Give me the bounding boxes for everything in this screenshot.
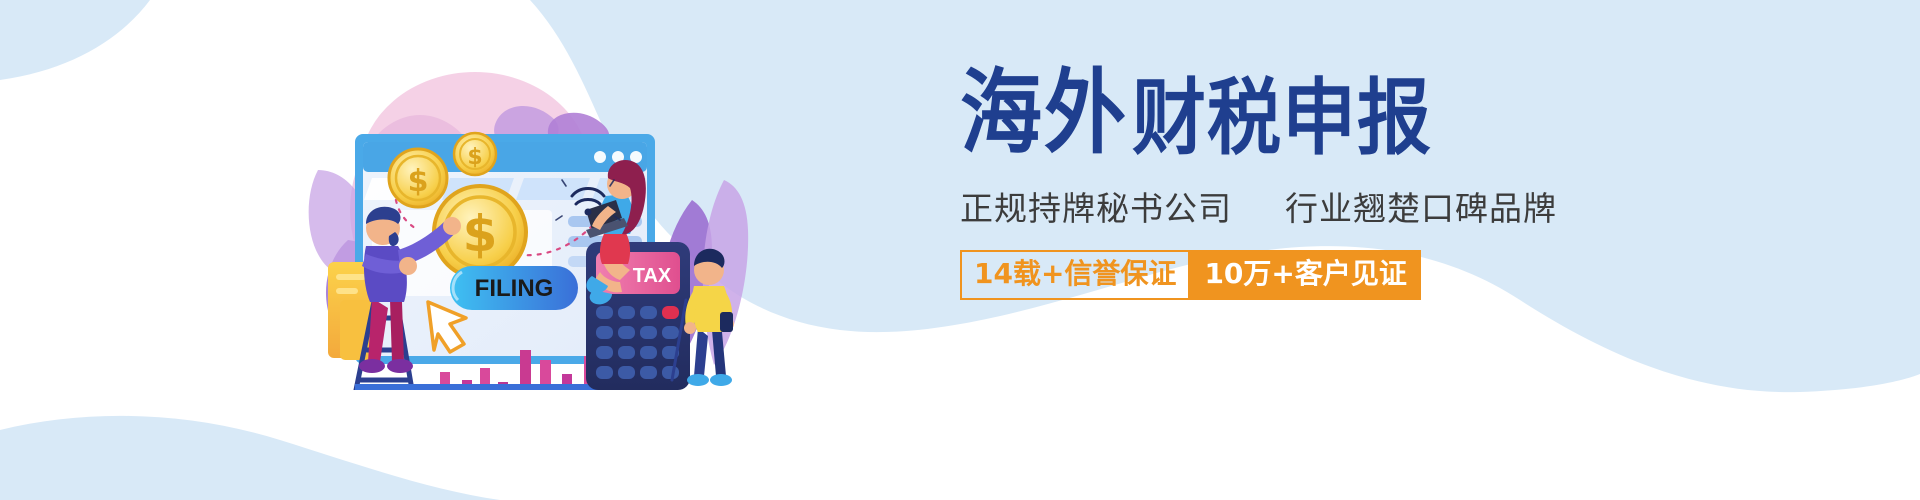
banner-subtitle: 正规持牌秘书公司 行业翘楚口碑品牌 (960, 182, 1720, 230)
gold-coin-small: $ (454, 133, 496, 175)
headline-part-a: 海外 (960, 68, 1128, 160)
svg-text:$: $ (467, 145, 482, 170)
headline-part-b: 财税申报 (1132, 77, 1432, 160)
subtitle-left: 正规持牌秘书公司 (960, 189, 1232, 228)
badge-group: 14载+信誉保证 10万+客户见证 (960, 250, 1720, 300)
svg-text:$: $ (463, 205, 498, 263)
subtitle-right: 行业翘楚口碑品牌 (1285, 189, 1557, 228)
svg-text:FILING: FILING (475, 275, 554, 302)
status-badge-years: 14载+信誉保证 (960, 250, 1190, 300)
svg-text:$: $ (408, 164, 429, 199)
status-badge-clients: 10万+客户见证 (1190, 250, 1420, 300)
filing-button: FILING (450, 266, 578, 310)
page-title: 海外 财税申报 (960, 78, 1720, 160)
banner-text-content: 海外 财税申报 正规持牌秘书公司 行业翘楚口碑品牌 14载+信誉保证 10万+客… (960, 78, 1720, 300)
promo-banner: $ $ $ (0, 0, 1920, 500)
finance-illustration: $ $ $ (300, 50, 760, 390)
svg-text:TAX: TAX (633, 265, 672, 287)
gold-coin-medium: $ (389, 149, 447, 207)
